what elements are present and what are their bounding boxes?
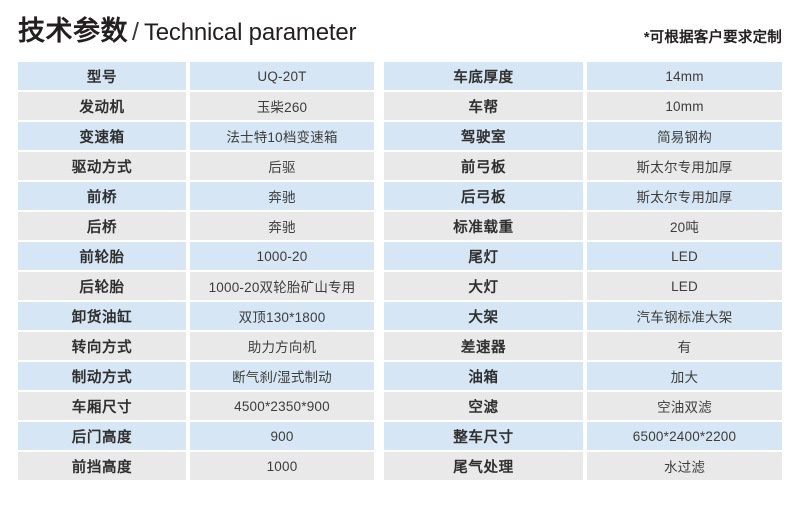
spec-value: 双顶130*1800 bbox=[190, 302, 374, 330]
spec-label: 前挡高度 bbox=[18, 452, 186, 480]
spec-label: 尾灯 bbox=[384, 242, 583, 270]
table-row: 驱动方式后驱 bbox=[18, 152, 374, 180]
table-row: 大灯LED bbox=[384, 272, 782, 300]
spec-value: 助力方向机 bbox=[190, 332, 374, 360]
table-row: 型号UQ-20T bbox=[18, 62, 374, 90]
spec-label: 前轮胎 bbox=[18, 242, 186, 270]
table-row: 卸货油缸双顶130*1800 bbox=[18, 302, 374, 330]
spec-label: 后桥 bbox=[18, 212, 186, 240]
spec-value: 14mm bbox=[587, 62, 782, 90]
spec-label: 车厢尺寸 bbox=[18, 392, 186, 420]
spec-value: 断气刹/湿式制动 bbox=[190, 362, 374, 390]
spec-label: 尾气处理 bbox=[384, 452, 583, 480]
spec-label: 整车尺寸 bbox=[384, 422, 583, 450]
spec-label: 差速器 bbox=[384, 332, 583, 360]
table-row: 差速器有 bbox=[384, 332, 782, 360]
spec-label: 大架 bbox=[384, 302, 583, 330]
spec-label: 型号 bbox=[18, 62, 186, 90]
spec-value: 斯太尔专用加厚 bbox=[587, 152, 782, 180]
table-row: 标准载重20吨 bbox=[384, 212, 782, 240]
spec-label: 变速箱 bbox=[18, 122, 186, 150]
table-row: 后桥奔驰 bbox=[18, 212, 374, 240]
spec-label: 油箱 bbox=[384, 362, 583, 390]
table-row: 车帮10mm bbox=[384, 92, 782, 120]
spec-value: UQ-20T bbox=[190, 62, 374, 90]
table-row: 后门高度900 bbox=[18, 422, 374, 450]
spec-label: 车帮 bbox=[384, 92, 583, 120]
table-row: 油箱加大 bbox=[384, 362, 782, 390]
table-row: 前桥奔驰 bbox=[18, 182, 374, 210]
table-row: 整车尺寸6500*2400*2200 bbox=[384, 422, 782, 450]
table-row: 前轮胎1000-20 bbox=[18, 242, 374, 270]
page-title-cn: 技术参数 bbox=[18, 16, 128, 46]
spec-label: 发动机 bbox=[18, 92, 186, 120]
spec-label: 后门高度 bbox=[18, 422, 186, 450]
spec-value: 4500*2350*900 bbox=[190, 392, 374, 420]
table-row: 前挡高度1000 bbox=[18, 452, 374, 480]
spec-table-left: 型号UQ-20T发动机玉柴260变速箱法士特10档变速箱驱动方式后驱前桥奔驰后桥… bbox=[18, 62, 374, 480]
spec-value: 6500*2400*2200 bbox=[587, 422, 782, 450]
spec-value: 20吨 bbox=[587, 212, 782, 240]
page-title-separator: / bbox=[132, 18, 139, 46]
table-row: 制动方式断气刹/湿式制动 bbox=[18, 362, 374, 390]
spec-label: 标准载重 bbox=[384, 212, 583, 240]
table-row: 后弓板斯太尔专用加厚 bbox=[384, 182, 782, 210]
spec-label: 后弓板 bbox=[384, 182, 583, 210]
table-row: 尾气处理水过滤 bbox=[384, 452, 782, 480]
spec-value: 玉柴260 bbox=[190, 92, 374, 120]
table-row: 后轮胎1000-20双轮胎矿山专用 bbox=[18, 272, 374, 300]
customization-note: *可根据客户要求定制 bbox=[644, 26, 782, 47]
spec-label: 大灯 bbox=[384, 272, 583, 300]
spec-value: 斯太尔专用加厚 bbox=[587, 182, 782, 210]
table-row: 车底厚度14mm bbox=[384, 62, 782, 90]
spec-label: 驱动方式 bbox=[18, 152, 186, 180]
spec-label: 制动方式 bbox=[18, 362, 186, 390]
spec-value: 汽车钢标准大架 bbox=[587, 302, 782, 330]
table-row: 车厢尺寸4500*2350*900 bbox=[18, 392, 374, 420]
spec-table-right: 车底厚度14mm车帮10mm驾驶室简易钢构前弓板斯太尔专用加厚后弓板斯太尔专用加… bbox=[384, 62, 782, 480]
spec-value: 奔驰 bbox=[190, 182, 374, 210]
page-title-en: Technical parameter bbox=[144, 19, 356, 46]
table-row: 驾驶室简易钢构 bbox=[384, 122, 782, 150]
table-row: 前弓板斯太尔专用加厚 bbox=[384, 152, 782, 180]
spec-value: 1000-20 bbox=[190, 242, 374, 270]
table-row: 大架汽车钢标准大架 bbox=[384, 302, 782, 330]
spec-label: 转向方式 bbox=[18, 332, 186, 360]
spec-value: 900 bbox=[190, 422, 374, 450]
spec-value: 水过滤 bbox=[587, 452, 782, 480]
table-row: 发动机玉柴260 bbox=[18, 92, 374, 120]
spec-value: 空油双滤 bbox=[587, 392, 782, 420]
spec-value: 简易钢构 bbox=[587, 122, 782, 150]
spec-label: 后轮胎 bbox=[18, 272, 186, 300]
spec-value: 有 bbox=[587, 332, 782, 360]
spec-value: 1000 bbox=[190, 452, 374, 480]
page-header: 技术参数/Technical parameter *可根据客户要求定制 bbox=[0, 0, 800, 58]
spec-value: 奔驰 bbox=[190, 212, 374, 240]
spec-value: 10mm bbox=[587, 92, 782, 120]
spec-value: 加大 bbox=[587, 362, 782, 390]
spec-value: LED bbox=[587, 272, 782, 300]
spec-tables-container: 型号UQ-20T发动机玉柴260变速箱法士特10档变速箱驱动方式后驱前桥奔驰后桥… bbox=[18, 62, 782, 480]
spec-value: 法士特10档变速箱 bbox=[190, 122, 374, 150]
spec-value: 1000-20双轮胎矿山专用 bbox=[190, 272, 374, 300]
page-title: 技术参数/Technical parameter bbox=[18, 18, 356, 45]
spec-label: 前桥 bbox=[18, 182, 186, 210]
table-row: 变速箱法士特10档变速箱 bbox=[18, 122, 374, 150]
spec-label: 驾驶室 bbox=[384, 122, 583, 150]
spec-label: 前弓板 bbox=[384, 152, 583, 180]
spec-label: 卸货油缸 bbox=[18, 302, 186, 330]
spec-value: LED bbox=[587, 242, 782, 270]
table-row: 尾灯LED bbox=[384, 242, 782, 270]
spec-value: 后驱 bbox=[190, 152, 374, 180]
table-row: 转向方式助力方向机 bbox=[18, 332, 374, 360]
spec-label: 车底厚度 bbox=[384, 62, 583, 90]
table-row: 空滤空油双滤 bbox=[384, 392, 782, 420]
spec-label: 空滤 bbox=[384, 392, 583, 420]
